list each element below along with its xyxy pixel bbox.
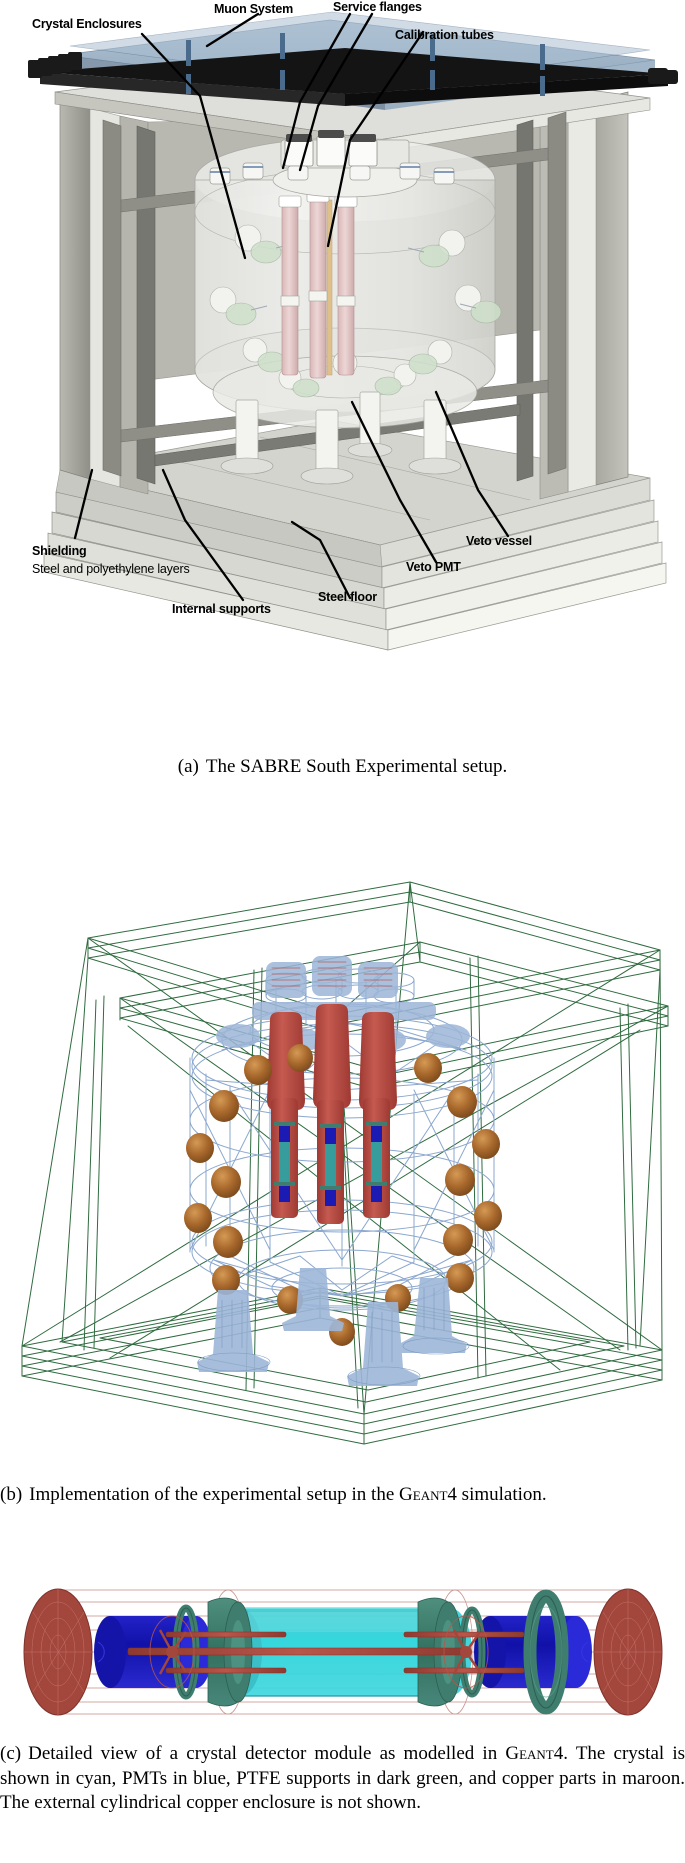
panel-c-svg bbox=[0, 1572, 685, 1732]
label-veto-vessel: Veto vessel bbox=[466, 534, 532, 549]
caption-c-pre: Detailed view of a crystal detector modu… bbox=[28, 1743, 505, 1764]
crystal-enclosures-geometry bbox=[279, 191, 357, 378]
label-crystal-enclosures: Crystal Enclosures bbox=[32, 17, 142, 32]
caption-b-tag: (b) bbox=[0, 1484, 22, 1505]
caption-c-tag: (c) bbox=[0, 1743, 21, 1764]
copper-endcap-left bbox=[24, 1589, 92, 1715]
caption-b: (b)Implementation of the experimental se… bbox=[0, 1483, 685, 1508]
caption-c-geant: Geant bbox=[505, 1743, 553, 1764]
copper-endcap-right bbox=[594, 1589, 662, 1715]
panel-b-geant4-wireframe bbox=[0, 790, 685, 1460]
label-veto-pmt: Veto PMT bbox=[406, 560, 461, 575]
label-steel-floor: Steel floor bbox=[318, 590, 377, 605]
label-calibration-tubes: Calibration tubes bbox=[395, 28, 494, 43]
caption-c: (c)Detailed view of a crystal detector m… bbox=[0, 1742, 685, 1816]
panel-c-crystal-module bbox=[0, 1572, 685, 1732]
caption-b-pre: Implementation of the experimental setup… bbox=[29, 1484, 399, 1505]
caption-a-text: The SABRE South Experimental setup. bbox=[206, 756, 507, 777]
caption-b-geant: Geant bbox=[399, 1484, 447, 1505]
panel-a-svg bbox=[0, 0, 685, 745]
crystal-modules bbox=[267, 1004, 397, 1224]
label-shielding: Shielding bbox=[32, 544, 86, 559]
label-internal-supports: Internal supports bbox=[172, 602, 271, 617]
caption-a: (a)The SABRE South Experimental setup. bbox=[0, 755, 685, 780]
label-shielding-sub: Steel and polyethylene layers bbox=[32, 562, 192, 577]
label-service-flanges: Service flanges bbox=[333, 0, 422, 15]
figure-page: Crystal Enclosures Muon System Service f… bbox=[0, 0, 685, 1863]
caption-b-post: 4 simulation. bbox=[447, 1484, 546, 1505]
panel-a-cad-render: Crystal Enclosures Muon System Service f… bbox=[0, 0, 685, 745]
label-muon-system: Muon System bbox=[214, 2, 293, 17]
panel-b-svg bbox=[0, 790, 685, 1460]
caption-a-tag: (a) bbox=[178, 756, 199, 777]
